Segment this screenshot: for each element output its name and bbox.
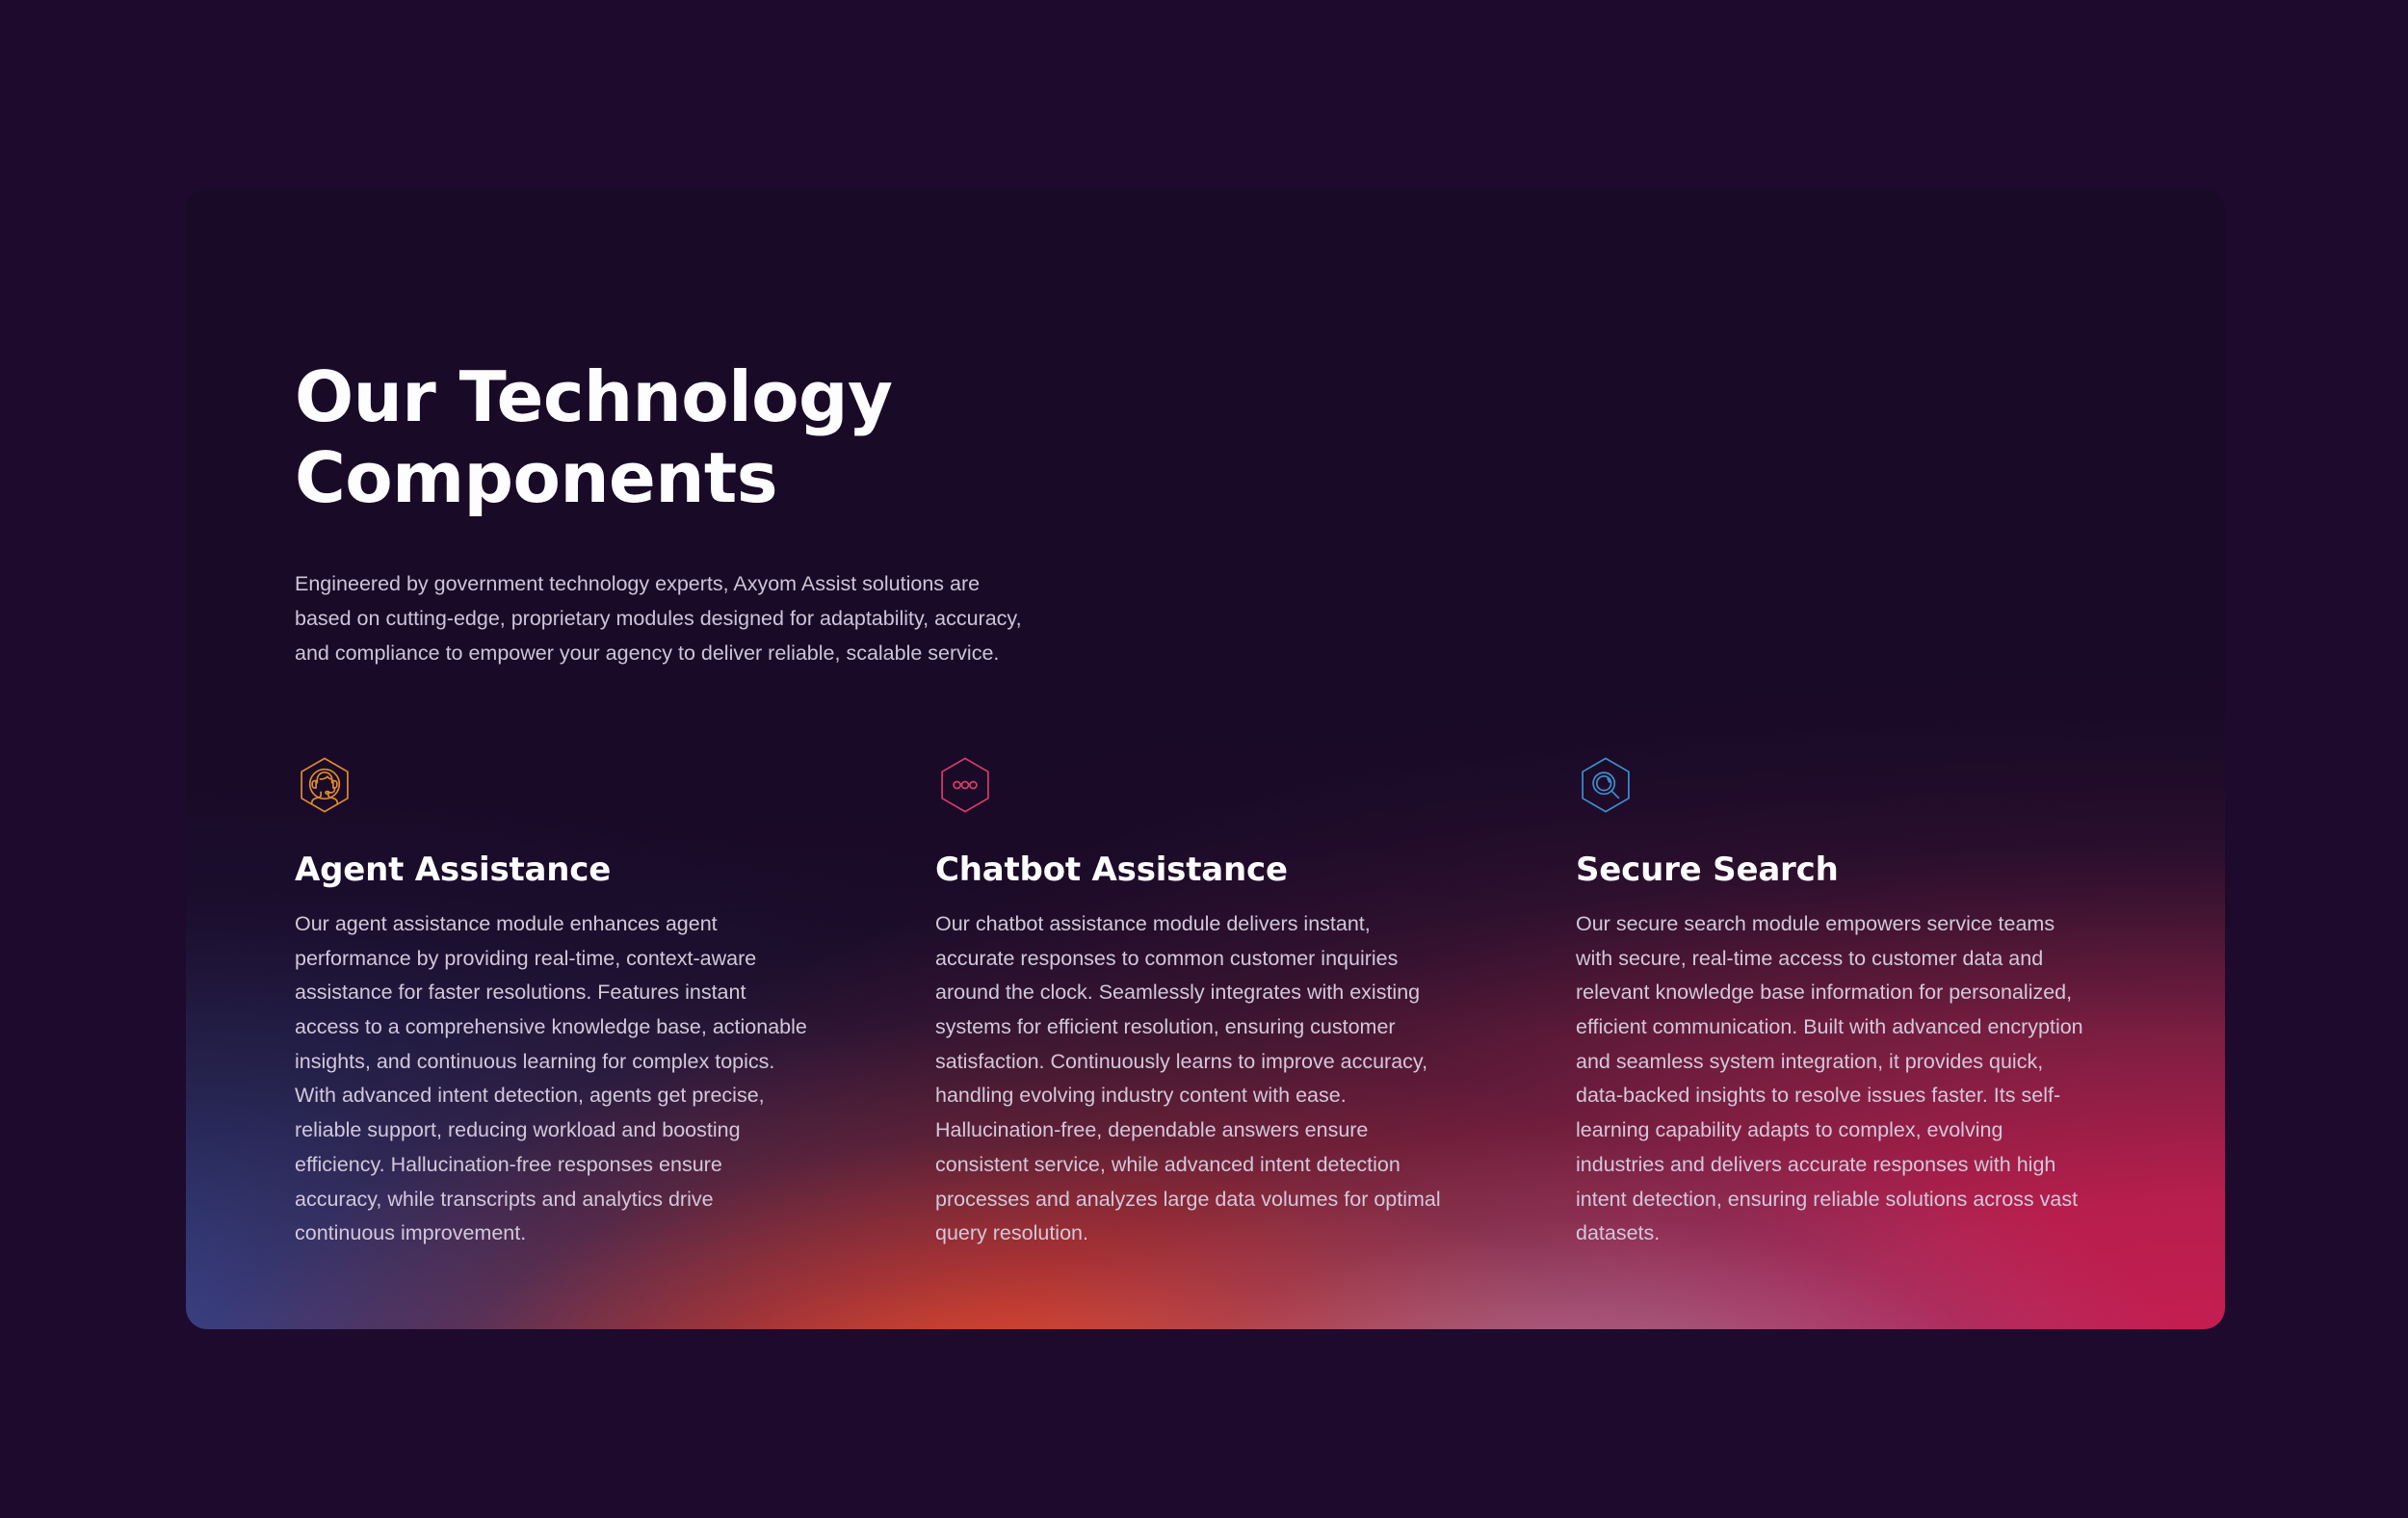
heading-block: Our Technology Components Engineered by … — [295, 357, 1258, 670]
component-title: Chatbot Assistance — [935, 851, 1482, 889]
hexagon-chat-dots-icon — [935, 755, 995, 815]
technology-components-card: Our Technology Components Engineered by … — [186, 189, 2225, 1329]
component-card-secure-search: Secure Search Our secure search module e… — [1576, 755, 2123, 1251]
component-description: Our secure search module empowers servic… — [1576, 907, 2084, 1251]
page-title: Our Technology Components — [295, 357, 1258, 518]
hexagon-headset-agent-icon — [295, 755, 354, 815]
component-description: Our agent assistance module enhances age… — [295, 907, 811, 1251]
component-card-agent-assistance: Agent Assistance Our agent assistance mo… — [295, 755, 842, 1251]
intro-paragraph: Engineered by government technology expe… — [295, 566, 1027, 670]
component-title: Secure Search — [1576, 851, 2123, 889]
component-description: Our chatbot assistance module delivers i… — [935, 907, 1444, 1251]
component-card-chatbot-assistance: Chatbot Assistance Our chatbot assistanc… — [935, 755, 1482, 1251]
component-title: Agent Assistance — [295, 851, 842, 889]
components-row: Agent Assistance Our agent assistance mo… — [295, 755, 2125, 1251]
hexagon-magnifier-icon — [1576, 755, 1636, 815]
